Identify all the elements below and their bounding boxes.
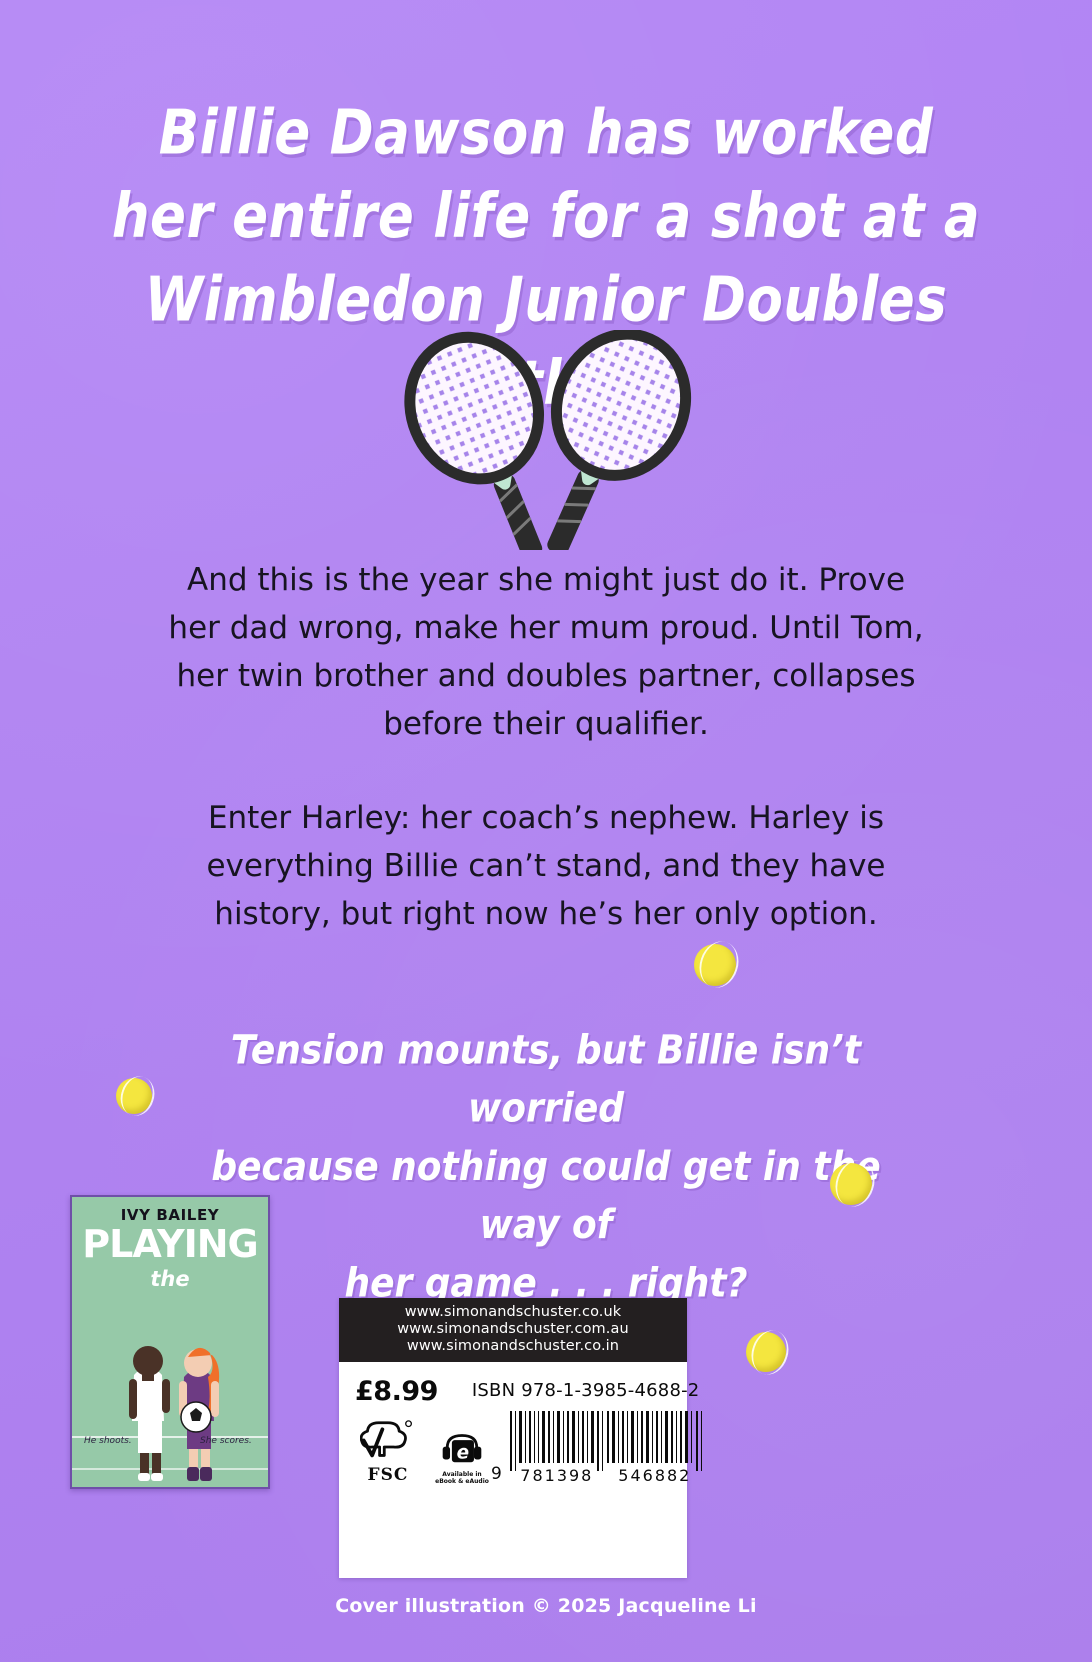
fsc-logo: FSC [357,1418,419,1485]
price-isbn-row: £8.99 ISBN 978-1-3985-4688-2 [339,1362,687,1407]
tennis-ball-icon [694,944,736,986]
barcode-group-1: 781398 [520,1466,593,1485]
thumbnail-title-line-1: PLAYING [72,1224,268,1264]
related-book-thumbnail: IVY BAILEY PLAYING the FIELD [70,1195,270,1489]
book-back-cover: Billie Dawson has worked her entire life… [0,0,1092,1662]
ebook-label-line-2: eBook & eAudio [433,1478,491,1485]
thumbnail-tagline-right: She scores. [200,1436,252,1446]
isbn-label: ISBN [472,1380,515,1401]
barcode-lead-digit: 9 [491,1464,502,1485]
tennis-ball-icon [746,1332,786,1372]
crossed-tennis-rackets-icon [336,330,756,550]
blurb: And this is the year she might just do i… [0,556,1092,938]
logos-and-barcode-row: FSC e Available in eBook & eAudio [339,1407,687,1495]
tagline-line-1: Tension mounts, but Billie isn’t worried [170,1022,922,1138]
isbn: ISBN 978-1-3985-4688-2 [472,1374,700,1401]
blurb-paragraph-2: Enter Harley: her coach’s nephew. Harley… [160,794,932,938]
tennis-ball-icon [830,1163,872,1205]
ean-barcode: 9 [491,1411,704,1485]
tennis-ball-icon [116,1078,152,1114]
headline-line-2: her entire life for a shot at a [90,176,1002,260]
fsc-tree-icon [360,1418,416,1463]
price: £8.99 [355,1374,438,1407]
thumbnail-illustration: He shoots. She scores. [72,1287,268,1487]
publisher-url-in[interactable]: www.simonandschuster.co.in [339,1338,687,1355]
publisher-urls: www.simonandschuster.co.uk www.simonands… [339,1298,687,1362]
publisher-url-uk[interactable]: www.simonandschuster.co.uk [339,1304,687,1321]
barcode-bars: 781398 546882 [508,1411,704,1485]
tagline-line-2: because nothing could get in the way of [170,1138,922,1254]
ebook-availability-logo: e Available in eBook & eAudio [433,1429,491,1485]
blurb-paragraph-1: And this is the year she might just do i… [160,556,932,748]
illustration-credit: Cover illustration © 2025 Jacqueline Li [0,1595,1092,1617]
isbn-value: 978-1-3985-4688-2 [521,1380,699,1401]
barcode-block: www.simonandschuster.co.uk www.simonands… [339,1298,687,1578]
certification-logos: FSC e Available in eBook & eAudio [357,1418,491,1485]
ebook-label: Available in eBook & eAudio [433,1471,491,1485]
ebook-e-glyph: e [457,1443,469,1464]
barcode-digits: 781398 546882 [508,1466,704,1485]
barcode-group-2: 546882 [618,1466,691,1485]
ebook-headphones-icon: e [439,1429,485,1466]
thumbnail-tagline-left: He shoots. [84,1436,132,1446]
fsc-label: FSC [357,1465,419,1485]
headline-line-1: Billie Dawson has worked [90,92,1002,176]
publisher-url-au[interactable]: www.simonandschuster.com.au [339,1321,687,1338]
ebook-label-line-1: Available in [433,1471,491,1478]
